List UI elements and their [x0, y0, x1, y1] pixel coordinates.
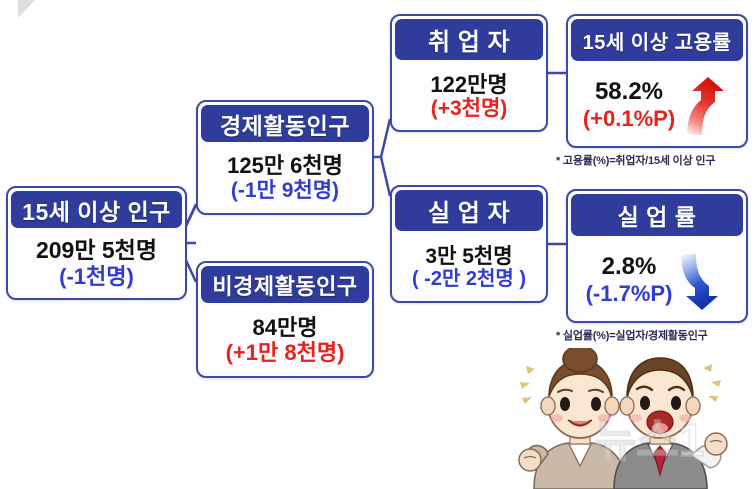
node-body-unemployed: 3만 5천명 ( -2만 2천명 )	[392, 234, 546, 304]
employed-value: 122만명	[430, 73, 507, 98]
employment-rate-numbers: 58.2% (+0.1%P)	[583, 79, 675, 131]
node-body-employment-rate: 58.2% (+0.1%P)	[568, 64, 746, 149]
employed-delta: (+3천명)	[431, 97, 508, 121]
corner-fold-decoration	[18, 0, 35, 18]
economically-active-delta: (-1만 9천명)	[231, 179, 339, 203]
employment-rate-delta: (+0.1%P)	[583, 106, 675, 131]
node-unemployed[interactable]: 실 업 자 3만 5천명 ( -2만 2천명 )	[390, 185, 548, 303]
node-header-population-15-plus: 15세 이상 인구	[11, 191, 182, 228]
employment-rate-value: 58.2%	[595, 79, 663, 106]
non-economically-active-delta: (+1만 8천명)	[226, 340, 345, 365]
node-body-population-15-plus: 209만 5천명 (-1천명)	[8, 231, 185, 299]
population-15-plus-value: 209만 5천명	[36, 238, 157, 264]
unemployment-rate-row: 2.8% (-1.7%P)	[572, 250, 742, 312]
news1-watermark: 뉴스1	[592, 412, 742, 468]
node-economically-active[interactable]: 경제활동인구 125만 6천명 (-1만 9천명)	[196, 100, 374, 215]
node-employed[interactable]: 취 업 자 122만명 (+3천명)	[390, 14, 548, 132]
employment-rate-row: 58.2% (+0.1%P)	[572, 75, 742, 137]
arrow-down-blue-icon	[676, 250, 728, 312]
node-header-unemployment-rate: 실 업 률	[571, 194, 743, 236]
unemployed-value: 3만 5천명	[425, 245, 512, 269]
node-employment-rate[interactable]: 15세 이상 고용률 58.2% (+0.1%P)	[566, 14, 748, 148]
unemployment-rate-delta: (-1.7%P)	[586, 281, 673, 306]
footnote-employment-rate-formula: * 고용률(%)=취업자/15세 이상 인구	[556, 152, 715, 168]
unemployment-rate-numbers: 2.8% (-1.7%P)	[586, 254, 673, 306]
infographic-canvas: 15세 이상 인구 209만 5천명 (-1천명) 경제활동인구 125만 6천…	[0, 0, 754, 489]
node-body-employed: 122만명 (+3천명)	[392, 63, 546, 133]
node-body-non-economically-active: 84만명 (+1만 8천명)	[198, 306, 372, 377]
node-body-unemployment-rate: 2.8% (-1.7%P)	[568, 239, 746, 324]
node-body-economically-active: 125만 6천명 (-1만 9천명)	[198, 145, 372, 214]
unemployed-delta: ( -2만 2천명 )	[412, 268, 526, 291]
watermark-text: 뉴스1	[594, 414, 704, 466]
node-unemployment-rate[interactable]: 실 업 률 2.8% (-1.7%P)	[566, 189, 748, 323]
node-header-unemployed: 실 업 자	[395, 190, 543, 231]
unemployment-rate-value: 2.8%	[602, 254, 657, 281]
population-15-plus-delta: (-1천명)	[59, 264, 134, 289]
footnote-unemployment-rate-formula: * 실업률(%)=실업자/경제활동인구	[556, 327, 708, 343]
node-population-15-plus[interactable]: 15세 이상 인구 209만 5천명 (-1천명)	[6, 186, 187, 300]
arrow-up-red-icon	[679, 75, 731, 137]
node-header-economically-active: 경제활동인구	[201, 105, 369, 142]
node-header-employed: 취 업 자	[395, 19, 543, 60]
economically-active-value: 125만 6천명	[227, 154, 343, 179]
node-header-employment-rate: 15세 이상 고용률	[571, 19, 743, 61]
non-economically-active-value: 84만명	[253, 316, 318, 341]
node-non-economically-active[interactable]: 비경제활동인구 84만명 (+1만 8천명)	[196, 261, 374, 378]
node-header-non-economically-active: 비경제활동인구	[201, 266, 369, 303]
